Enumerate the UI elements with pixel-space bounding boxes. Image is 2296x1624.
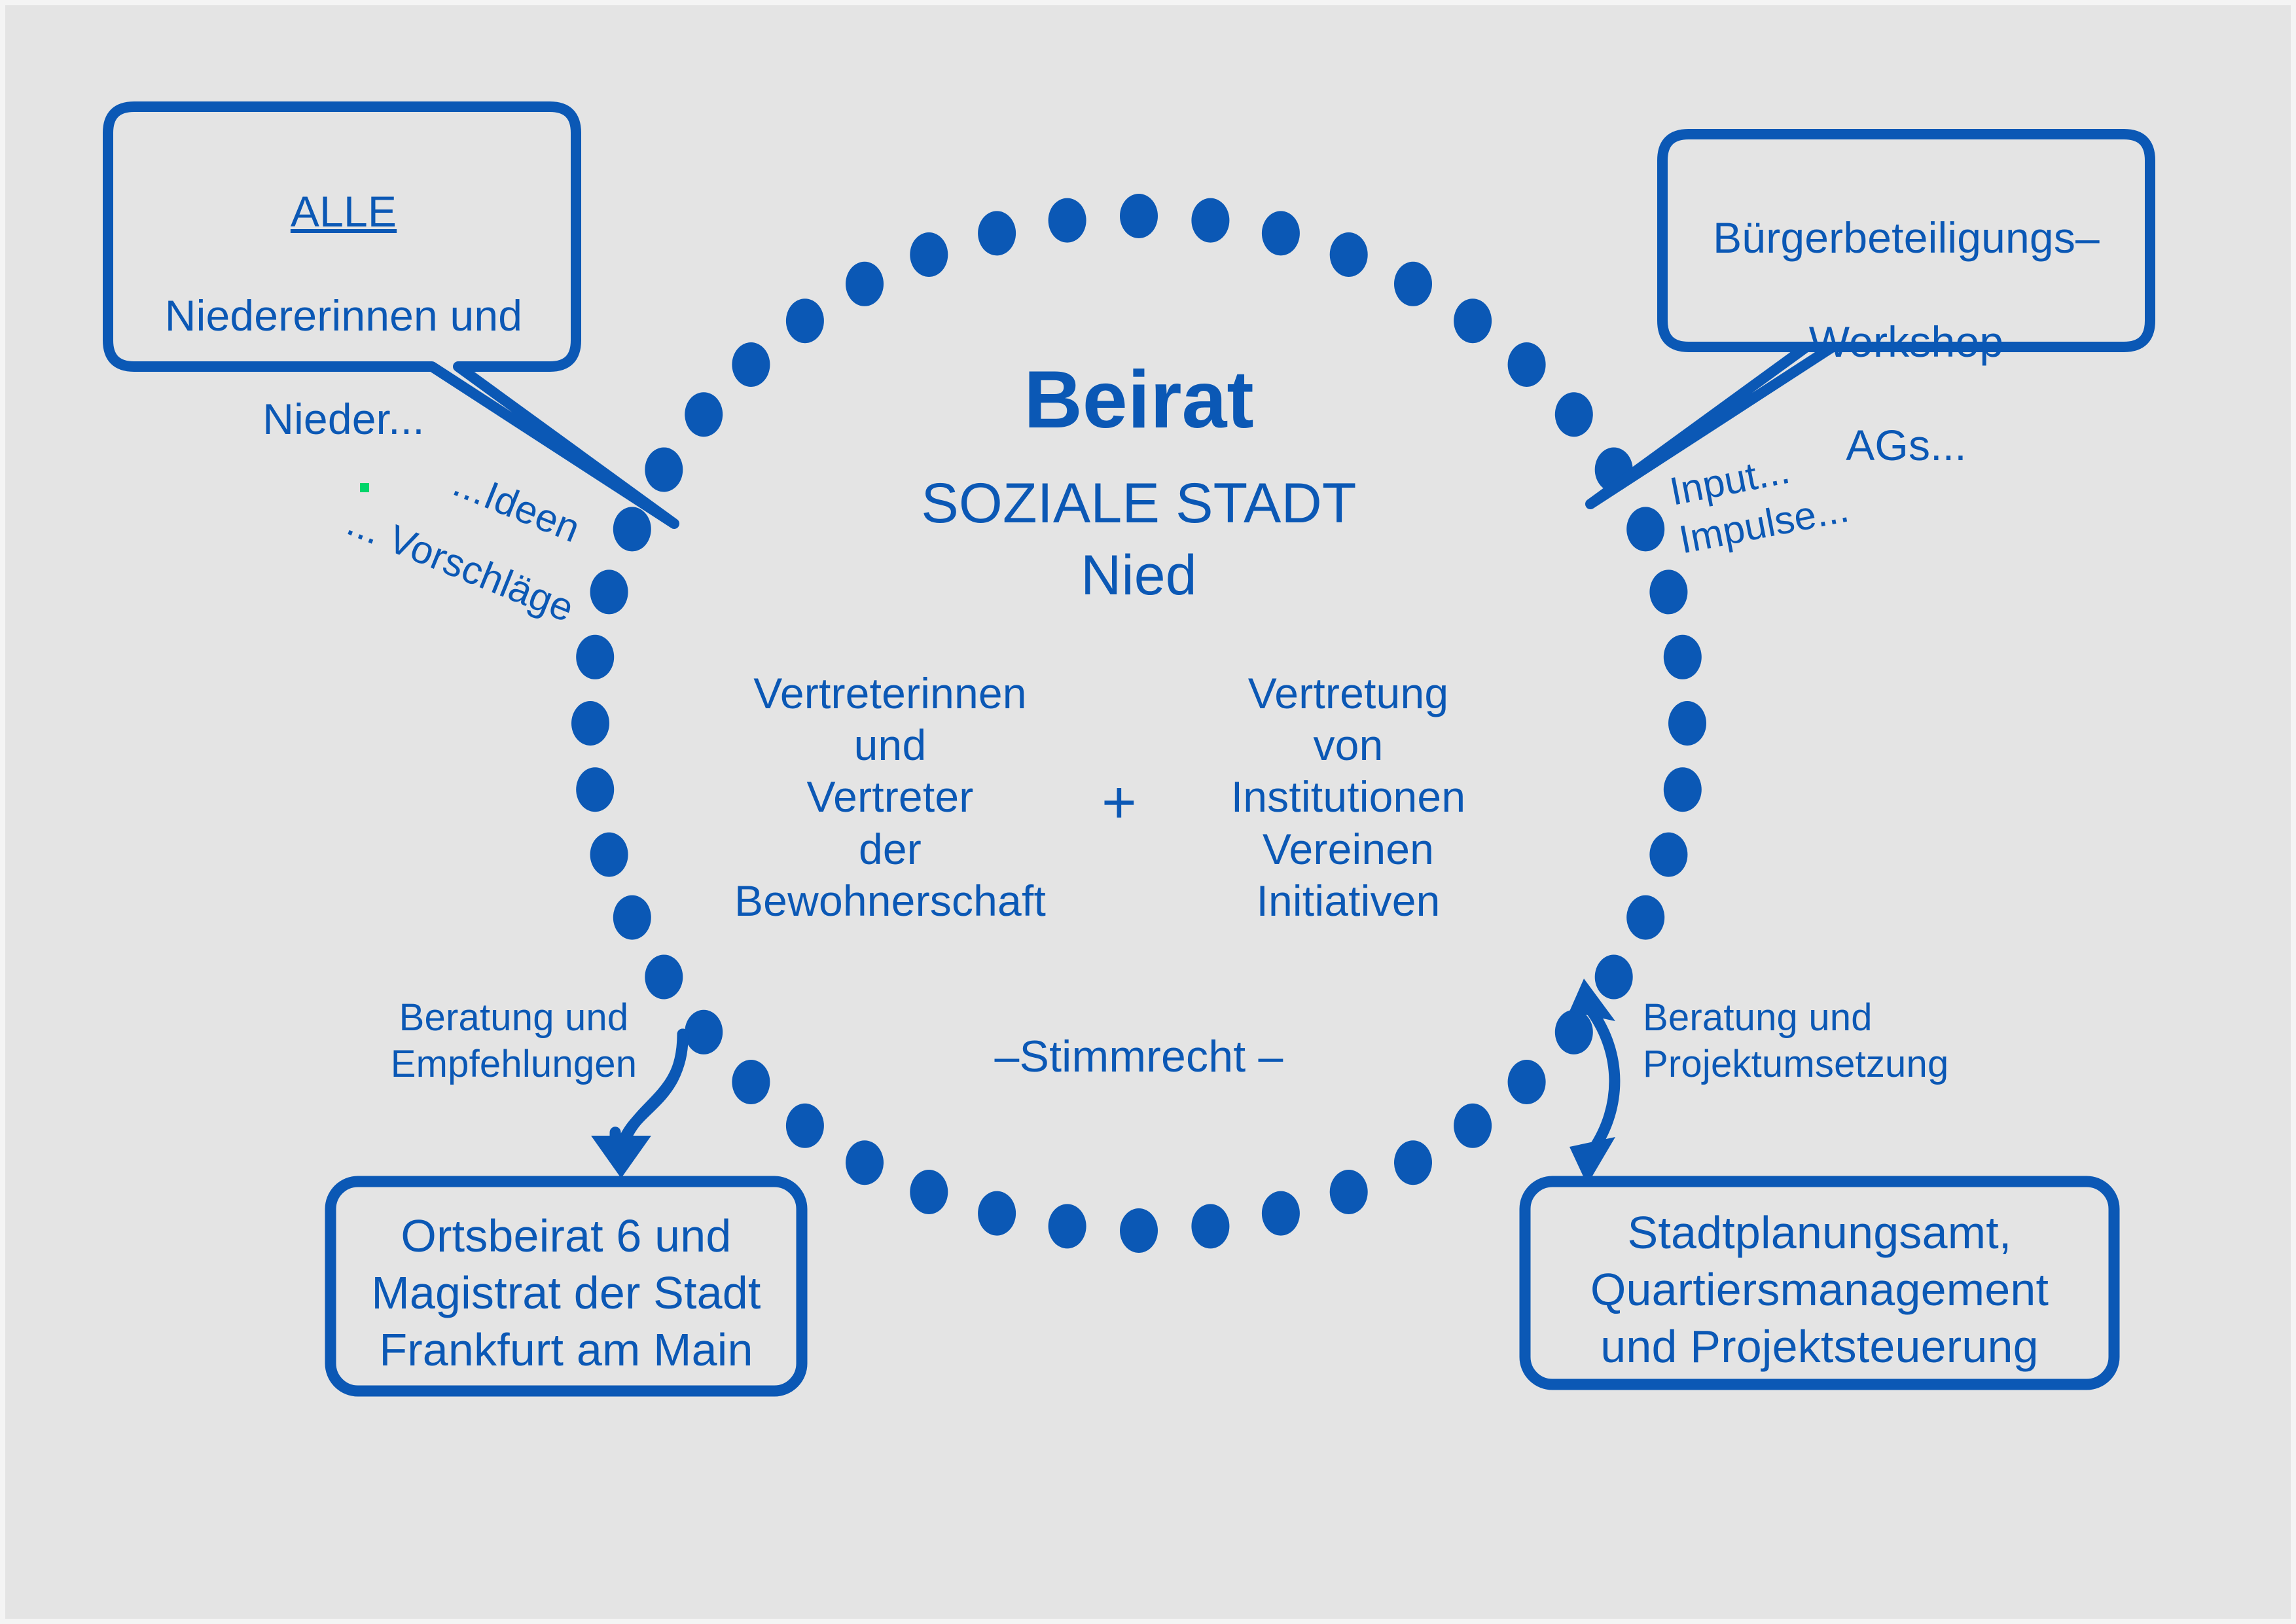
circle-dot — [732, 1060, 770, 1104]
circle-dot — [1595, 955, 1633, 1000]
circle-dot — [978, 1191, 1016, 1236]
page-title: Beirat — [812, 353, 1466, 448]
column-bewohnerschaft: Vertreterinnen und Vertreter der Bewohne… — [713, 668, 1067, 927]
circle-dot — [1191, 198, 1229, 243]
column-institutionen: Vertretung von Institutionen Vereinen In… — [1172, 668, 1525, 927]
circle-dot — [910, 1170, 948, 1214]
circle-dot — [1262, 211, 1300, 255]
circle-dot — [1454, 1104, 1492, 1148]
circle-dot — [1555, 1010, 1593, 1055]
circle-dot — [1191, 1204, 1229, 1248]
diagram-canvas: ALLE Niedererinnen und Nieder... Bürgerb… — [0, 0, 2296, 1624]
circle-dot — [571, 701, 609, 746]
circle-dot — [645, 448, 683, 492]
circle-dot — [1626, 895, 1664, 940]
bubble-top-left-text: ALLE Niedererinnen und Nieder... — [118, 134, 569, 497]
circle-dot — [786, 298, 824, 343]
circle-dot — [1049, 198, 1086, 243]
bubble-right-line1: Bürgerbeteiligungs– — [1672, 212, 2140, 264]
box-bottom-right-text: Stadtplanungsamt, Quartiersmanagement un… — [1535, 1204, 2104, 1375]
circle-dot — [1330, 232, 1368, 277]
circle-dot — [1555, 392, 1593, 437]
bubble-left-line2: Niedererinnen und — [118, 290, 569, 342]
circle-dot — [846, 262, 884, 306]
circle-dot — [732, 342, 770, 387]
circle-dot — [978, 211, 1016, 255]
circle-dot — [685, 1010, 723, 1055]
box-bottom-left-text: Ortsbeirat 6 und Magistrat der Stadt Fra… — [340, 1208, 792, 1378]
circle-dot — [1454, 298, 1492, 343]
circle-dot — [1394, 262, 1432, 306]
annotation-beratung-empfehlungen: Beratung und Empfehlungen — [373, 995, 655, 1088]
circle-dot — [910, 232, 948, 277]
annotation-beratung-projektumsetzung: Beratung und Projektumsetzung — [1643, 995, 1970, 1088]
circle-dot — [1120, 1208, 1158, 1253]
arrow-right-double — [1570, 979, 1615, 1185]
circle-dot — [1049, 1204, 1086, 1248]
circle-dot — [1649, 569, 1687, 614]
circle-dot — [613, 895, 651, 940]
circle-dot — [590, 569, 628, 614]
circle-dot — [576, 635, 614, 679]
circle-dot — [1664, 767, 1702, 812]
circle-dot — [613, 507, 651, 551]
circle-dot — [846, 1140, 884, 1185]
circle-dot — [786, 1104, 824, 1148]
circle-dot — [1262, 1191, 1300, 1236]
circle-dot — [1626, 507, 1664, 551]
circle-dot — [1508, 342, 1546, 387]
circle-dot — [1649, 833, 1687, 877]
stimmrecht-label: –Stimmrecht – — [910, 1031, 1368, 1083]
circle-dot — [685, 392, 723, 437]
circle-dot — [1394, 1140, 1432, 1185]
circle-dot — [1330, 1170, 1368, 1214]
circle-dot — [645, 955, 683, 1000]
bubble-left-line3: Nieder... — [118, 393, 569, 445]
location-label: Nied — [812, 543, 1466, 609]
bubble-right-line2: Workshop — [1672, 316, 2140, 368]
circle-dot — [1120, 194, 1158, 238]
circle-dot — [1508, 1060, 1546, 1104]
bubble-left-line1: ALLE — [118, 186, 569, 238]
circle-dot — [590, 833, 628, 877]
subtitle: SOZIALE STADT — [812, 471, 1466, 537]
circle-dot — [1668, 701, 1706, 746]
circle-dot — [1664, 635, 1702, 679]
plus-symbol: + — [1077, 772, 1162, 833]
circle-dot — [576, 767, 614, 812]
